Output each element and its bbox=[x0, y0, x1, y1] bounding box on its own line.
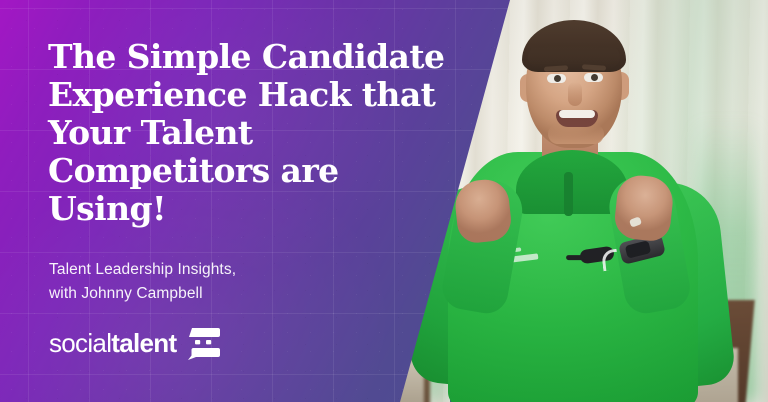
left-eye bbox=[547, 74, 566, 83]
hair bbox=[522, 20, 626, 72]
brand-wordmark: socialtalent bbox=[49, 330, 176, 356]
subtitle-line-2: with Johnny Campbell bbox=[49, 282, 379, 306]
socialtalent-logo[interactable]: socialtalent bbox=[49, 322, 220, 364]
right-eye bbox=[584, 73, 603, 82]
brand-word-social: social bbox=[49, 328, 111, 358]
title-card-slide: The Simple Candidate Experience Hack tha… bbox=[0, 0, 768, 402]
subtitle-line-1: Talent Leadership Insights, bbox=[49, 258, 379, 282]
mouth bbox=[556, 110, 598, 127]
chin-shadow bbox=[548, 124, 604, 144]
page-title: The Simple Candidate Experience Hack tha… bbox=[48, 38, 448, 228]
right-hand bbox=[613, 173, 675, 243]
nose bbox=[568, 82, 582, 106]
slide-content: The Simple Candidate Experience Hack tha… bbox=[48, 0, 458, 402]
teeth bbox=[559, 110, 595, 118]
speech-bubble-face-icon bbox=[186, 326, 220, 360]
subtitle-block: Talent Leadership Insights, with Johnny … bbox=[49, 258, 379, 306]
brand-word-talent: talent bbox=[111, 328, 176, 358]
